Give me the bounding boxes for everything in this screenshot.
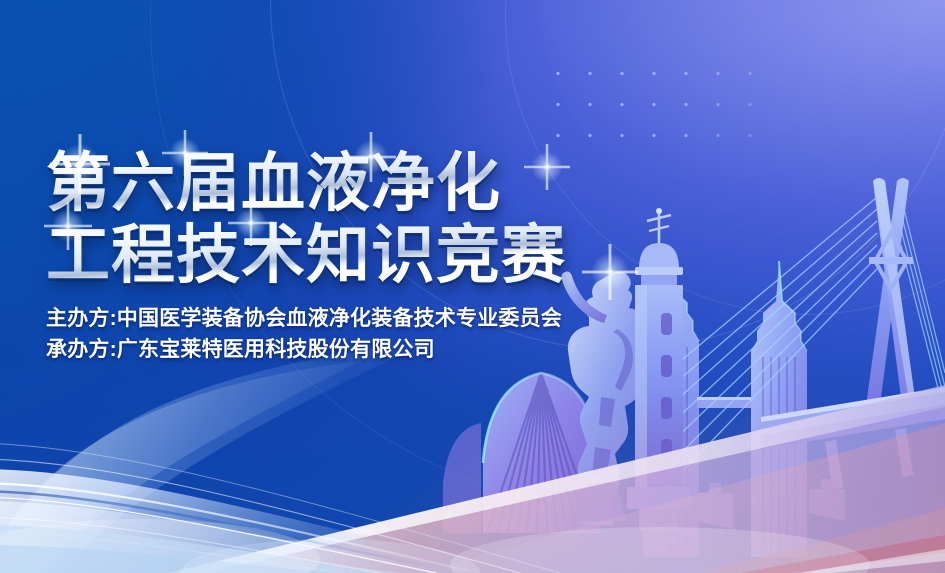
title-line-2: 工程技术知识竞赛 [46,220,686,290]
title-line-1: 第六届血液净化 [46,148,686,218]
event-banner: 第六届血液净化 工程技术知识竞赛 主办方:中国医学装备协会血液净化装备技术专业委… [0,0,945,573]
poster-title: 第六届血液净化 工程技术知识竞赛 [46,148,686,290]
undertaker-organization-line: 承办方:广东宝莱特医用科技股份有限公司 [46,334,562,365]
host-organization-line: 主办方:中国医学装备协会血液净化装备技术专业委员会 [46,303,562,334]
organizer-info: 主办方:中国医学装备协会血液净化装备技术专业委员会 承办方:广东宝莱特医用科技股… [46,303,562,365]
